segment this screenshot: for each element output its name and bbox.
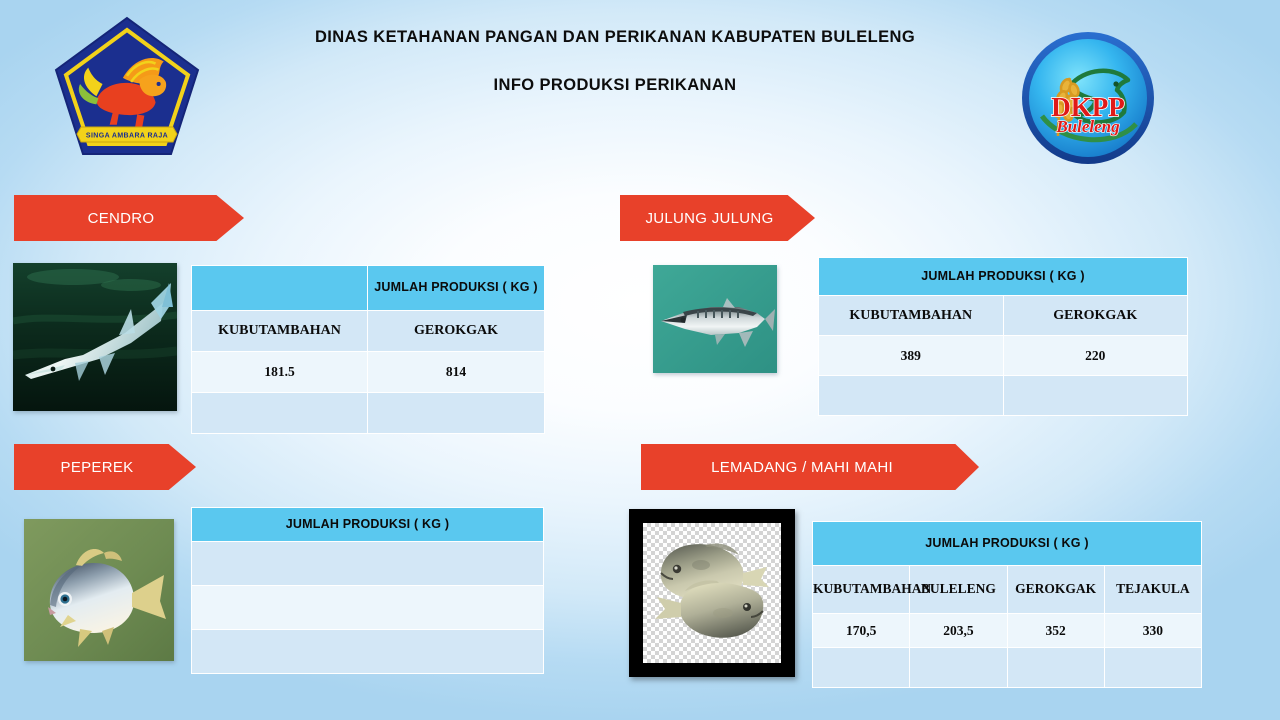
panel-title-cendro[interactable]: CENDRO [14,195,244,241]
panel-title-lemadang[interactable]: LEMADANG / MAHI MAHI [641,444,979,490]
cell-district: GEROKGAK [1007,566,1104,614]
cell-production-header: JUMLAH PRODUKSI ( KG ) [368,266,545,311]
table-row: JUMLAH PRODUKSI ( KG ) [819,258,1188,296]
cell-empty [1003,376,1188,416]
cell-value: 352 [1007,614,1104,648]
cell-value: 814 [368,352,545,393]
cell-district: KUBUTAMBAHAN [813,566,910,614]
table-row [192,586,544,630]
table-row: KUBUTAMBAHAN BULELENG GEROKGAK TEJAKULA [813,566,1202,614]
cell-empty [368,393,545,434]
cell-value: 220 [1003,336,1188,376]
table-row [819,376,1188,416]
panel-title-peperek-label: PEPEREK [14,459,196,476]
cell-district: TEJAKULA [1104,566,1201,614]
table-row: KUBUTAMBAHAN GEROKGAK [819,296,1188,336]
panel-title-peperek[interactable]: PEPEREK [14,444,196,490]
cell-empty [192,393,368,434]
buleleng-regency-emblem-icon: SINGA AMBARA RAJA [52,14,202,166]
production-table-lemadang: JUMLAH PRODUKSI ( KG ) KUBUTAMBAHAN BULE… [812,521,1202,688]
dkpp-buleleng-logo-icon: DKPP Buleleng [1018,28,1158,168]
slide-canvas: SINGA AMBARA RAJA DINAS KETAHANAN PANGAN… [0,0,1280,720]
cell-blank [192,266,368,311]
cell-empty [192,586,544,630]
fish-photo-julung-julung [653,265,777,373]
cell-production-header: JUMLAH PRODUKSI ( KG ) [813,522,1202,566]
fish-photo-lemadang-inner [643,523,781,663]
panel-title-cendro-label: CENDRO [14,210,244,227]
cell-value: 170,5 [813,614,910,648]
cell-value: 181.5 [192,352,368,393]
cell-production-header: JUMLAH PRODUKSI ( KG ) [192,508,544,542]
table-row: 170,5 203,5 352 330 [813,614,1202,648]
cell-district: KUBUTAMBAHAN [192,311,368,352]
cell-value: 203,5 [910,614,1007,648]
cell-empty [192,630,544,674]
cell-empty [192,542,544,586]
cell-empty [910,648,1007,688]
fish-photo-lemadang [629,509,795,677]
cell-empty [1104,648,1201,688]
cell-empty [819,376,1004,416]
table-row [192,542,544,586]
panel-title-julung-julung-label: JULUNG JULUNG [620,210,815,227]
table-row [192,630,544,674]
table-row: JUMLAH PRODUKSI ( KG ) [192,508,544,542]
production-table-cendro: JUMLAH PRODUKSI ( KG ) KUBUTAMBAHAN GERO… [191,265,545,434]
emblem-banner-text: SINGA AMBARA RAJA [86,133,168,140]
table-row: JUMLAH PRODUKSI ( KG ) [813,522,1202,566]
page-title-line1: DINAS KETAHANAN PANGAN DAN PERIKANAN KAB… [230,28,1000,47]
panel-title-lemadang-label: LEMADANG / MAHI MAHI [641,459,979,476]
table-row [813,648,1202,688]
cell-district: GEROKGAK [1003,296,1188,336]
table-row [192,393,545,434]
table-row: KUBUTAMBAHAN GEROKGAK [192,311,545,352]
table-row: 181.5 814 [192,352,545,393]
page-title-line2: INFO PRODUKSI PERIKANAN [230,76,1000,95]
cell-value: 330 [1104,614,1201,648]
header-title-block: DINAS KETAHANAN PANGAN DAN PERIKANAN KAB… [230,28,1000,95]
table-row: JUMLAH PRODUKSI ( KG ) [192,266,545,311]
cell-district: BULELENG [910,566,1007,614]
fish-photo-peperek [24,519,174,661]
cell-value: 389 [819,336,1004,376]
fish-photo-cendro [13,263,177,411]
production-table-julung-julung: JUMLAH PRODUKSI ( KG ) KUBUTAMBAHAN GERO… [818,257,1188,416]
panel-title-julung-julung[interactable]: JULUNG JULUNG [620,195,815,241]
cell-district: GEROKGAK [368,311,545,352]
production-table-peperek: JUMLAH PRODUKSI ( KG ) [191,507,544,674]
dkpp-logo-subtitle: Buleleng [1055,117,1120,136]
cell-empty [813,648,910,688]
cell-production-header: JUMLAH PRODUKSI ( KG ) [819,258,1188,296]
table-row: 389 220 [819,336,1188,376]
cell-district: KUBUTAMBAHAN [819,296,1004,336]
cell-empty [1007,648,1104,688]
